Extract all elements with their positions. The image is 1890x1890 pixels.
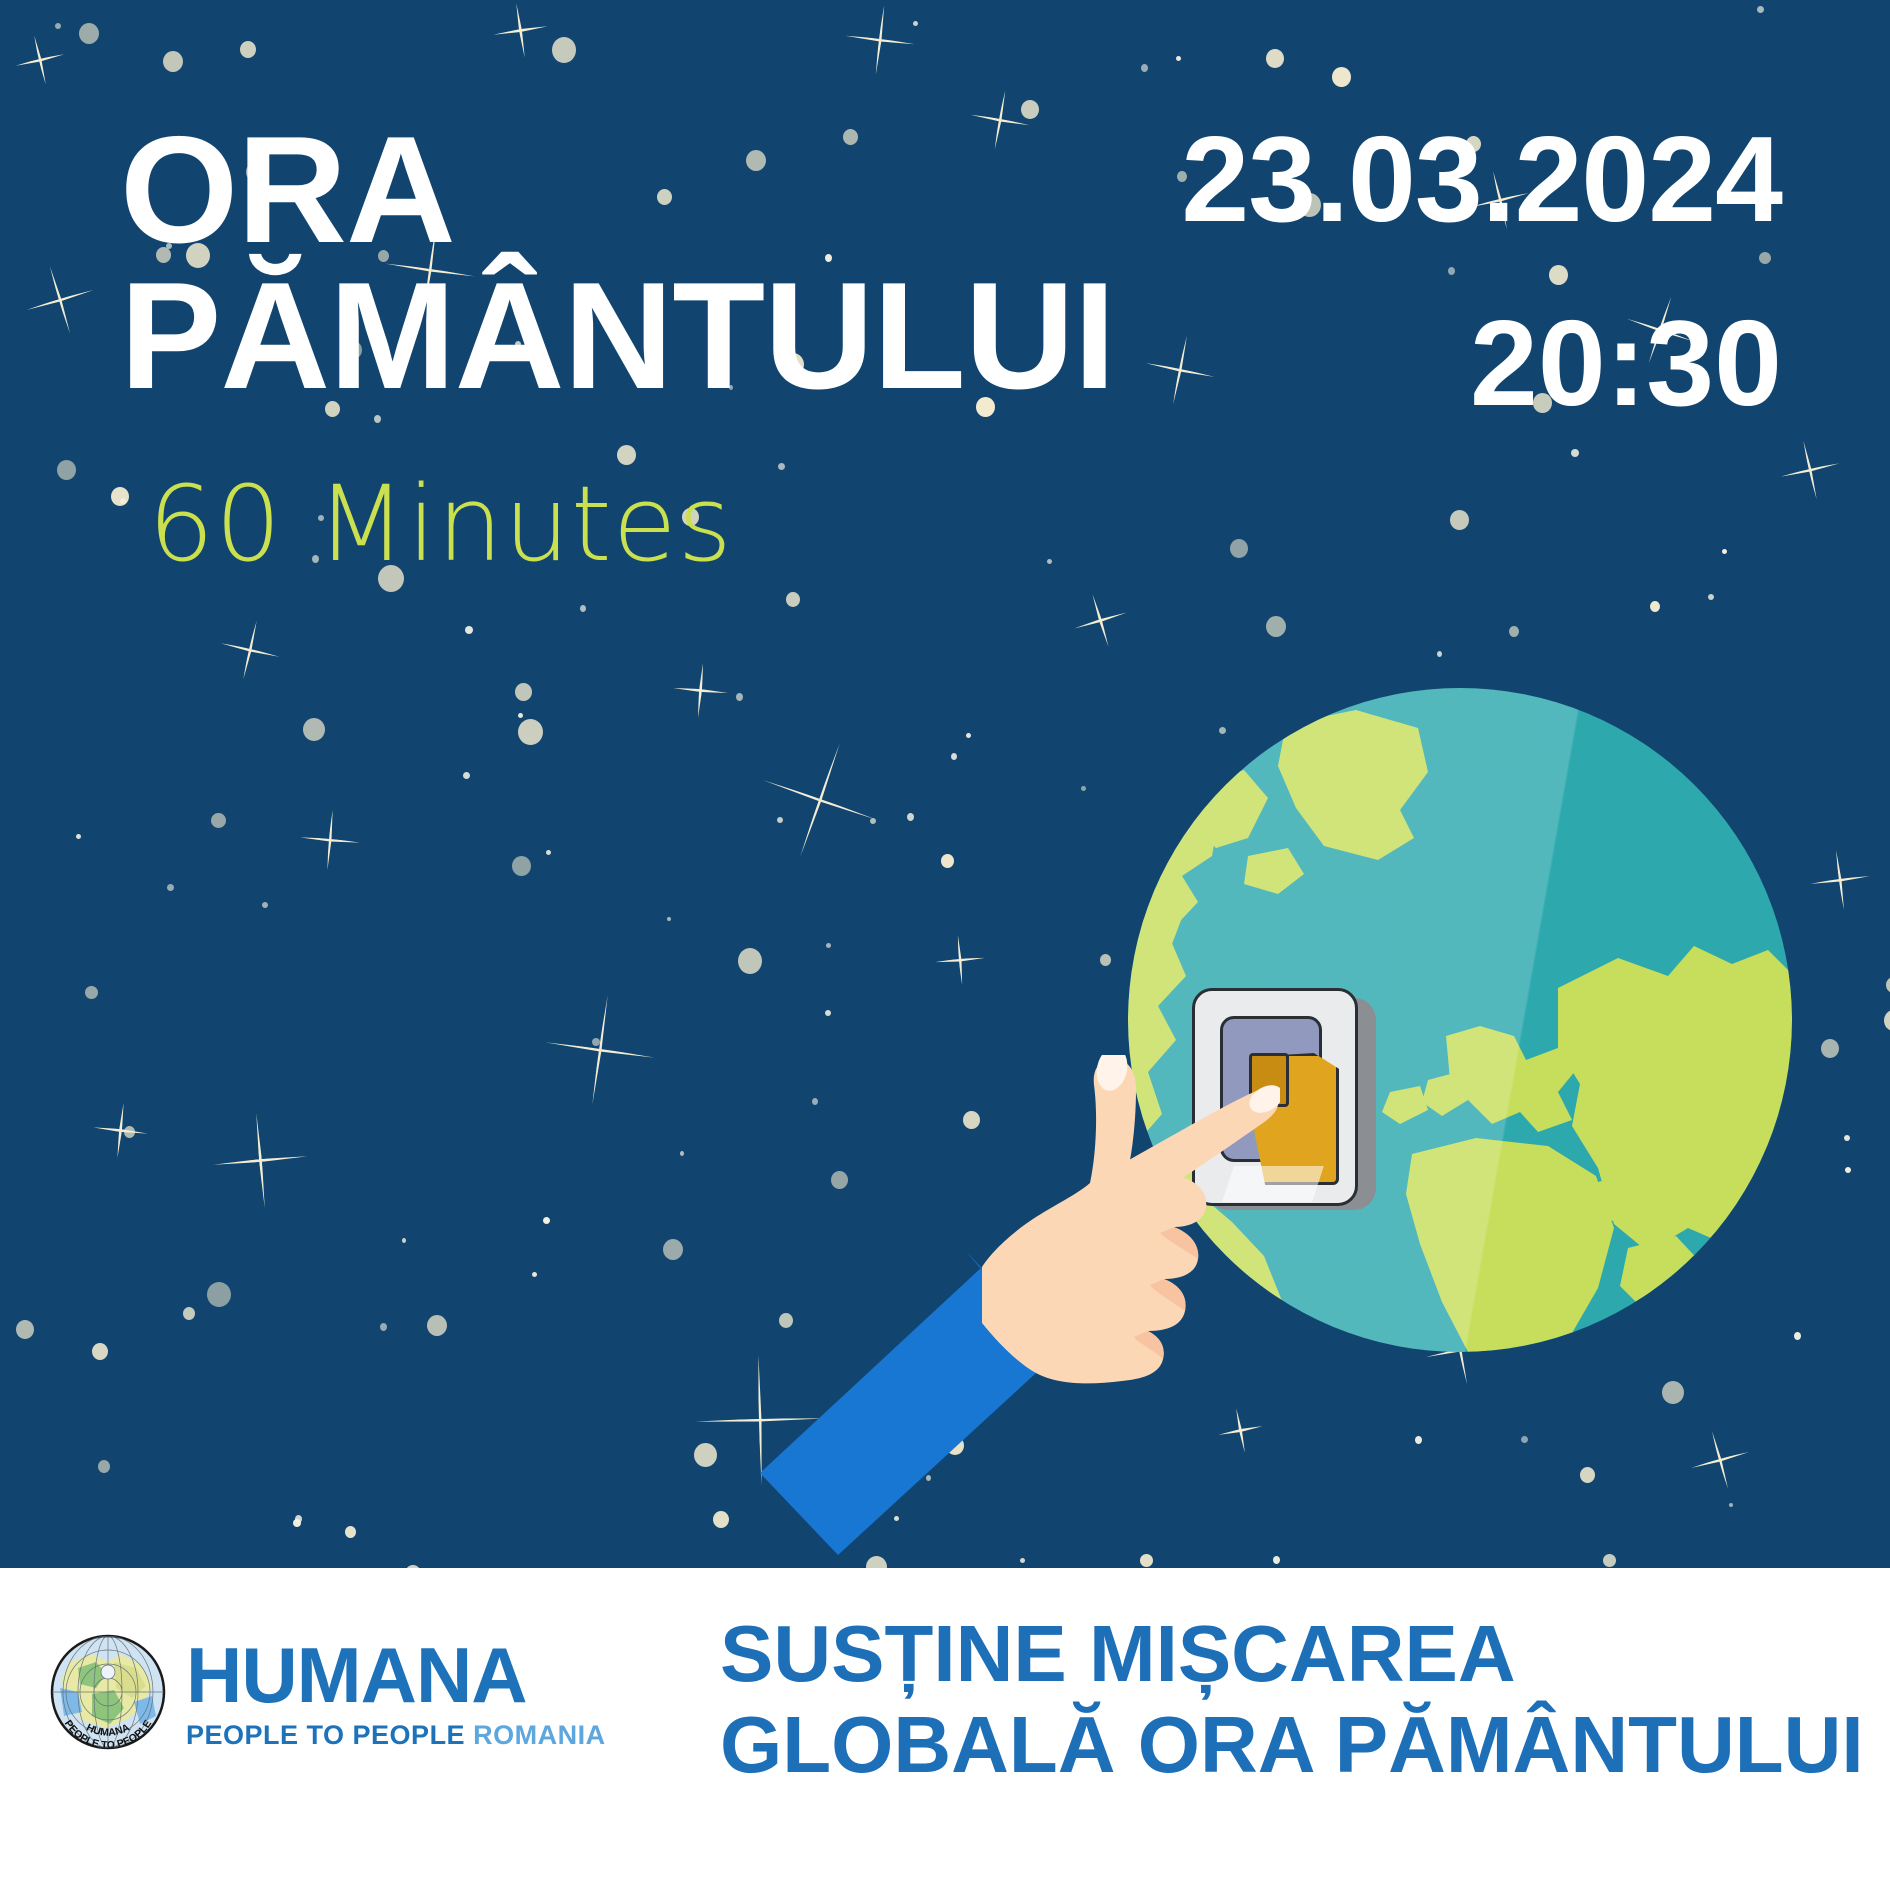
humana-globe-logo-icon: HUMANA PEOPLE TO PEOPLE	[48, 1632, 168, 1752]
star-dot	[262, 902, 268, 908]
star-dot	[617, 445, 636, 465]
title-line-1: ORA	[120, 118, 1180, 264]
star-sparkle	[538, 988, 662, 1112]
star-dot	[207, 1282, 231, 1307]
star-sparkle	[214, 614, 286, 686]
campaign-slogan: SUSȚINE MIȘCAREA GLOBALĂ ORA PĂMÂNTULUI	[720, 1608, 1864, 1790]
event-date: 23.03.2024	[1181, 118, 1782, 240]
humana-logo[interactable]: HUMANA PEOPLE TO PEOPLE HUMANA PEOPLE TO…	[48, 1632, 606, 1752]
sparkle-blade-horizontal	[1691, 1451, 1750, 1470]
star-dot	[240, 41, 256, 58]
star-dot	[303, 718, 325, 741]
star-dot	[663, 1239, 683, 1260]
star-sparkle	[1683, 1423, 1757, 1497]
star-dot	[1521, 1436, 1528, 1443]
star-dot	[738, 948, 762, 974]
star-dot	[211, 813, 226, 828]
star-dot	[1571, 449, 1579, 457]
star-dot	[552, 37, 576, 63]
star-dot	[98, 1460, 110, 1473]
star-sparkle	[933, 933, 987, 987]
star-dot	[966, 733, 971, 738]
star-dot	[1332, 67, 1351, 87]
night-sky-background: ORA PĂMÂNTULUI 60 Minutes 23.03.2024 20:…	[0, 0, 1890, 1568]
sparkle-blade-horizontal	[1780, 462, 1839, 478]
slogan-line-1: SUSȚINE MIȘCAREA	[720, 1608, 1864, 1699]
star-dot	[345, 1526, 356, 1538]
star-dot	[1100, 954, 1111, 966]
star-dot	[532, 1272, 537, 1277]
star-dot	[736, 693, 743, 701]
star-dot	[1884, 1010, 1890, 1031]
star-sparkle	[10, 30, 70, 90]
star-dot	[427, 1315, 447, 1336]
star-dot	[518, 713, 523, 718]
star-dot	[1415, 1436, 1422, 1444]
slogan-line-2: GLOBALĂ ORA PĂMÂNTULUI	[720, 1699, 1864, 1790]
star-dot	[512, 856, 531, 876]
star-dot	[120, 498, 126, 504]
star-dot	[1266, 49, 1284, 68]
title-line-2: PĂMÂNTULUI	[120, 264, 1180, 410]
star-dot	[295, 1515, 302, 1523]
star-sparkle	[90, 1100, 151, 1161]
star-dot	[85, 986, 98, 999]
star-sparkle	[16, 256, 103, 343]
star-dot	[826, 943, 831, 948]
star-dot	[580, 605, 586, 612]
star-dot	[55, 23, 61, 29]
star-dot	[1794, 1332, 1801, 1340]
star-dot	[465, 626, 473, 634]
logo-name: HUMANA	[186, 1636, 606, 1714]
page-title: ORA PĂMÂNTULUI	[120, 118, 1180, 410]
star-dot	[1662, 1381, 1684, 1404]
star-sparkle	[1774, 434, 1846, 506]
pointing-hand-illustration	[760, 1055, 1280, 1568]
star-sparkle	[297, 807, 362, 872]
star-dot	[543, 1217, 550, 1224]
star-dot	[1603, 1554, 1616, 1567]
duration-subtitle: 60 Minutes	[148, 463, 733, 585]
star-dot	[402, 1238, 406, 1243]
event-datetime: 23.03.2024 20:30	[1181, 118, 1782, 424]
star-dot	[1081, 786, 1086, 791]
star-dot	[16, 1320, 34, 1339]
star-dot	[1757, 6, 1764, 13]
star-dot	[1844, 1135, 1850, 1141]
star-dot	[907, 813, 914, 821]
star-dot	[57, 460, 76, 480]
star-dot	[1580, 1467, 1595, 1483]
star-dot	[1845, 1167, 1851, 1173]
logo-tagline: PEOPLE TO PEOPLE ROMANIA	[186, 1722, 606, 1749]
footer-banner: HUMANA PEOPLE TO PEOPLE HUMANA PEOPLE TO…	[0, 1568, 1890, 1890]
star-dot	[713, 1511, 729, 1528]
logo-tagline-text: PEOPLE TO PEOPLE	[186, 1720, 465, 1750]
star-dot	[1437, 651, 1442, 657]
star-dot	[546, 850, 551, 855]
star-dot	[1886, 977, 1890, 993]
star-dot	[1047, 559, 1052, 564]
star-dot	[1509, 626, 1519, 637]
star-dot	[1708, 594, 1714, 600]
star-dot	[825, 1010, 831, 1016]
sparkle-blade-horizontal	[26, 289, 94, 312]
star-dot	[1141, 64, 1148, 72]
star-sparkle	[208, 1108, 311, 1211]
star-dot	[786, 592, 800, 607]
event-time: 20:30	[1181, 302, 1782, 424]
star-dot	[380, 1323, 387, 1331]
star-dot	[518, 719, 543, 745]
star-dot	[515, 683, 532, 701]
star-dot	[951, 753, 957, 760]
star-dot	[1266, 616, 1286, 637]
star-dot	[667, 917, 671, 921]
earth-hour-poster: ORA PĂMÂNTULUI 60 Minutes 23.03.2024 20:…	[0, 0, 1890, 1890]
star-dot	[941, 854, 954, 868]
star-dot	[183, 1307, 195, 1320]
star-dot	[92, 1343, 108, 1360]
star-dot	[1176, 56, 1181, 61]
humana-logo-text: HUMANA PEOPLE TO PEOPLE ROMANIA	[186, 1636, 606, 1749]
hand-icon	[982, 1059, 1206, 1384]
star-dot	[680, 1151, 684, 1156]
star-dot	[1450, 510, 1469, 530]
sparkle-blade-horizontal	[1073, 611, 1126, 630]
star-dot	[1821, 1039, 1839, 1058]
sparkle-blade-horizontal	[220, 642, 279, 658]
star-dot	[463, 772, 470, 779]
logo-country: ROMANIA	[473, 1720, 606, 1750]
star-dot	[167, 884, 174, 891]
star-dot	[79, 23, 99, 44]
star-sparkle	[489, 0, 552, 61]
star-sparkle	[1806, 846, 1873, 913]
star-sparkle	[1066, 586, 1135, 655]
star-dot	[163, 51, 183, 72]
star-dot	[1230, 539, 1248, 558]
star-sparkle	[841, 1, 919, 79]
star-dot	[76, 834, 81, 839]
star-sparkle	[744, 724, 897, 877]
star-dot	[1729, 1503, 1733, 1507]
star-sparkle	[670, 660, 730, 720]
star-dot	[1722, 549, 1727, 554]
star-dot	[778, 463, 785, 470]
sparkle-blade-horizontal	[763, 779, 877, 821]
star-dot	[1650, 601, 1660, 612]
